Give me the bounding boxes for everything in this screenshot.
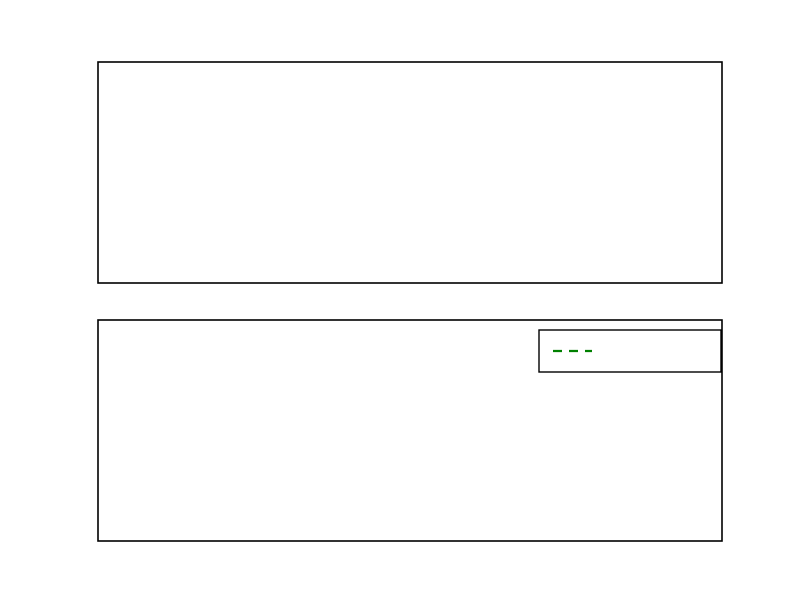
axes-cumulative-histogram (0, 0, 722, 541)
legend-frame (539, 330, 721, 372)
figure-canvas (0, 0, 800, 600)
axes-differential-histogram (98, 62, 722, 283)
matplotlib-figure (0, 0, 800, 600)
axes-frame-top (98, 62, 722, 283)
legend[interactable] (539, 330, 721, 372)
